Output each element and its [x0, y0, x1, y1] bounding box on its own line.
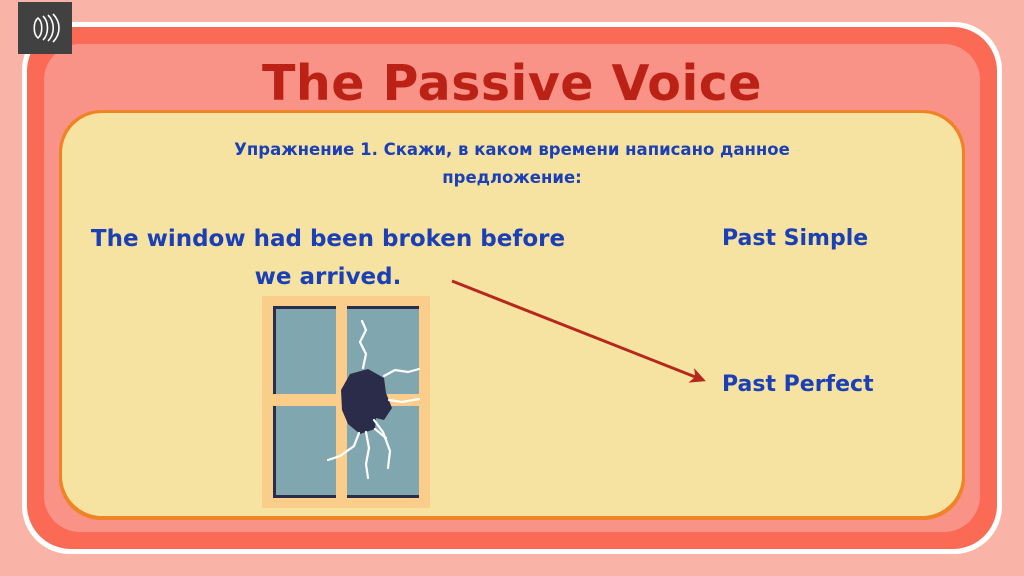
answer-option-past-perfect[interactable]: Past Perfect: [722, 372, 874, 397]
speaker-icon: [28, 12, 62, 44]
page-title: The Passive Voice: [0, 55, 1024, 112]
slide-canvas: The Passive Voice Упражнение 1. Скажи, в…: [0, 0, 1024, 576]
answer-option-past-simple[interactable]: Past Simple: [722, 226, 868, 251]
question-sentence: The window had been broken before we arr…: [78, 220, 578, 296]
broken-window-illustration: [262, 296, 430, 508]
audio-badge[interactable]: [18, 2, 72, 54]
exercise-instruction: Упражнение 1. Скажи, в каком времени нап…: [212, 136, 812, 192]
